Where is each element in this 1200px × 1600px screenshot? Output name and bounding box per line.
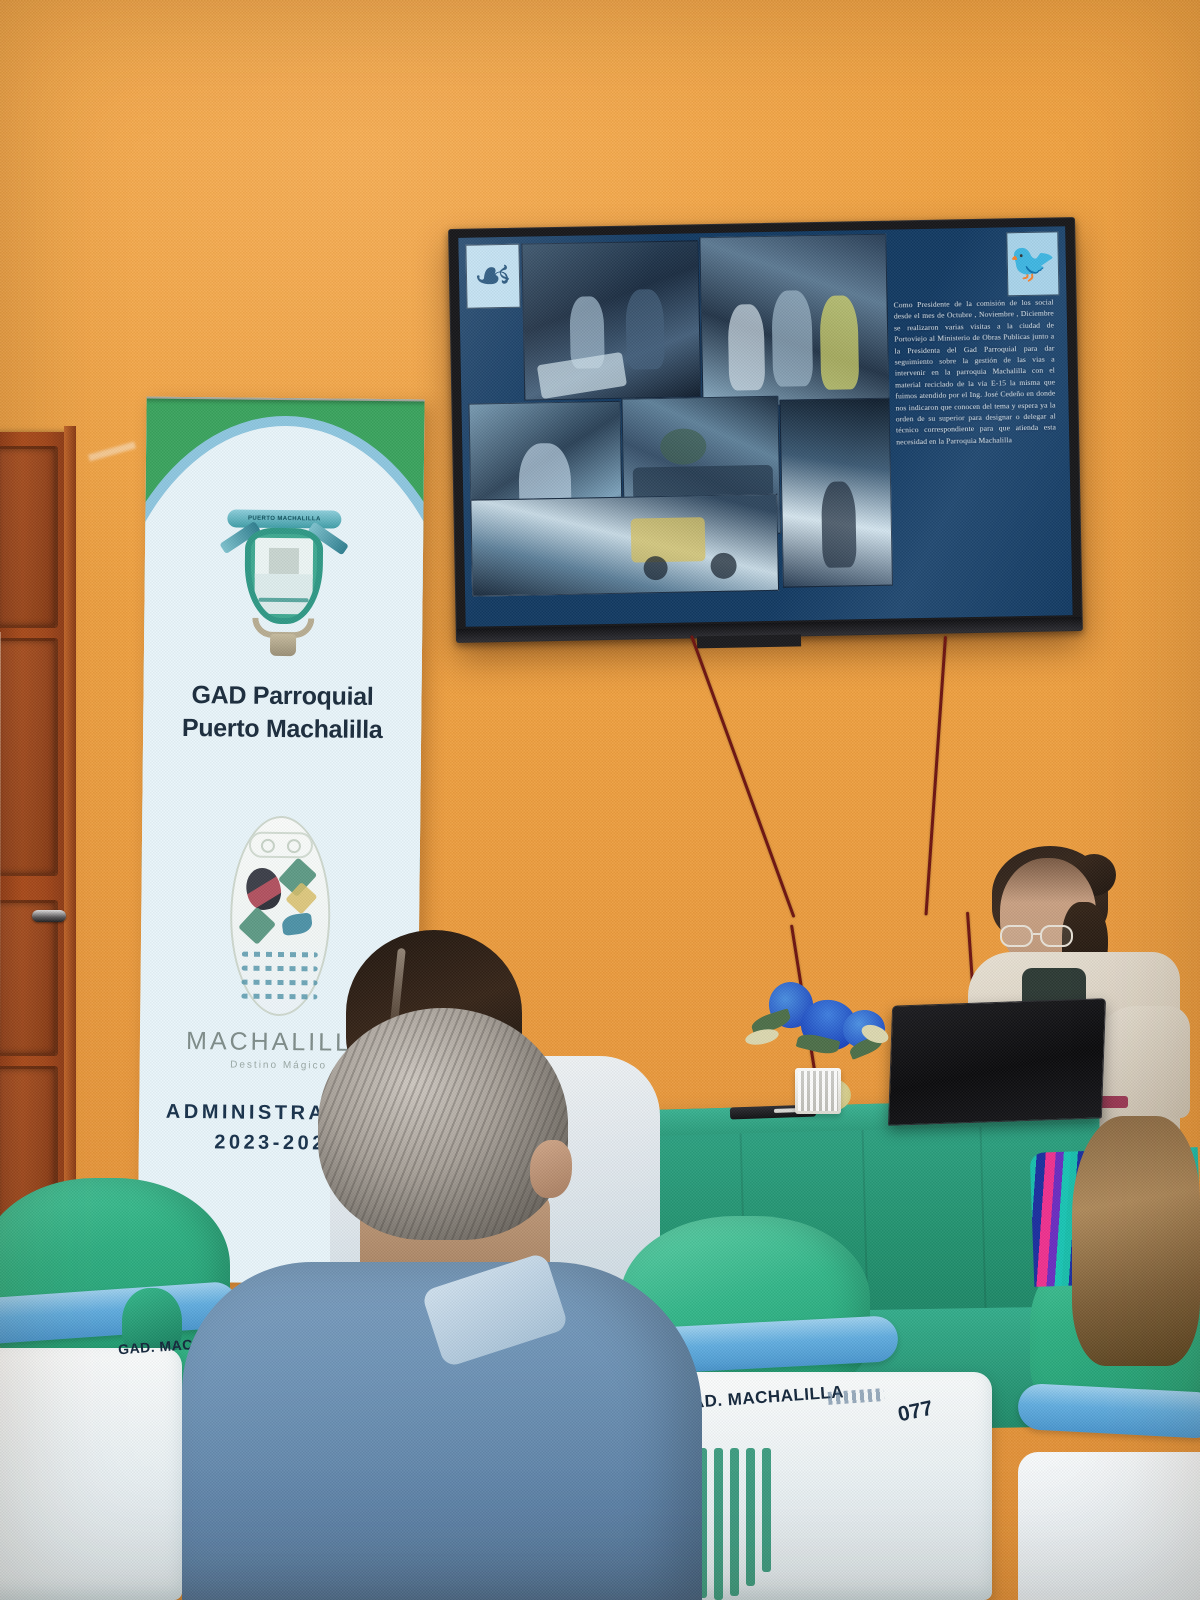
door-panel bbox=[0, 638, 58, 876]
wall-mounted-television: ☙ 🐦 bbox=[448, 217, 1083, 643]
brand-wave bbox=[242, 952, 318, 958]
door-panel bbox=[0, 900, 58, 1056]
door-frame bbox=[64, 426, 76, 1228]
brand-eye-left bbox=[261, 839, 275, 853]
crest-ribbon: PUERTO MACHALILLA bbox=[227, 509, 341, 528]
crest-wave bbox=[258, 598, 308, 603]
machalilla-bird-logo-icon: 🐦 bbox=[1006, 231, 1059, 296]
slide-photo-road-grader bbox=[470, 494, 779, 597]
tv-wall-mount bbox=[697, 634, 801, 648]
door-highlight bbox=[0, 632, 1, 1052]
slide-photo-meeting-indoor bbox=[521, 240, 701, 400]
man-hair-texture bbox=[318, 1008, 568, 1240]
slide-photo-three-people bbox=[699, 234, 889, 408]
white-plastic-chair[interactable] bbox=[0, 1348, 182, 1600]
parish-crest-icon: PUERTO MACHALILLA bbox=[222, 505, 346, 656]
door-panel bbox=[0, 446, 58, 628]
crest-ribbon-text: PUERTO MACHALILLA bbox=[227, 509, 341, 528]
machalilla-mask-logo-icon: ☙ bbox=[465, 244, 520, 309]
black-laptop[interactable] bbox=[888, 998, 1106, 1126]
tablecloth-fold bbox=[979, 1127, 987, 1331]
slide-photo-office-doorway bbox=[779, 398, 893, 588]
crest-sea bbox=[254, 574, 312, 615]
crest-shield-body bbox=[244, 528, 323, 625]
door-handle-icon[interactable] bbox=[32, 910, 66, 922]
brand-wave bbox=[241, 980, 317, 986]
cream-filler-flower bbox=[744, 1027, 780, 1048]
man-ear bbox=[530, 1140, 572, 1198]
attendee-right-hair bbox=[1072, 1116, 1200, 1366]
brand-mask-eyes bbox=[249, 832, 313, 859]
crest-base bbox=[270, 634, 296, 656]
lens-right bbox=[1040, 925, 1073, 947]
attendee-right-lower bbox=[1018, 1452, 1200, 1600]
presentation-slide: ☙ 🐦 bbox=[458, 226, 1072, 627]
banner-title-line2: Puerto Machalilla bbox=[143, 711, 421, 746]
white-vase bbox=[795, 1068, 841, 1114]
brand-wave bbox=[242, 966, 318, 972]
tv-screen: ☙ 🐦 bbox=[458, 226, 1072, 627]
lens-left bbox=[1000, 925, 1033, 947]
wooden-door[interactable] bbox=[0, 432, 68, 1222]
meeting-room-photo: ☙ 🐦 bbox=[0, 0, 1200, 1600]
slide-body-text: Como Presidente de la comisión de los so… bbox=[894, 296, 1060, 612]
brand-wave bbox=[241, 994, 317, 1000]
machalilla-brand-icon bbox=[229, 815, 331, 1016]
banner-title: GAD Parroquial Puerto Machalilla bbox=[143, 679, 422, 747]
brand-eye-right bbox=[287, 839, 301, 853]
crest-building bbox=[269, 548, 299, 574]
eyeglasses-icon bbox=[1000, 925, 1082, 947]
banner-title-line1: GAD Parroquial bbox=[143, 679, 421, 714]
